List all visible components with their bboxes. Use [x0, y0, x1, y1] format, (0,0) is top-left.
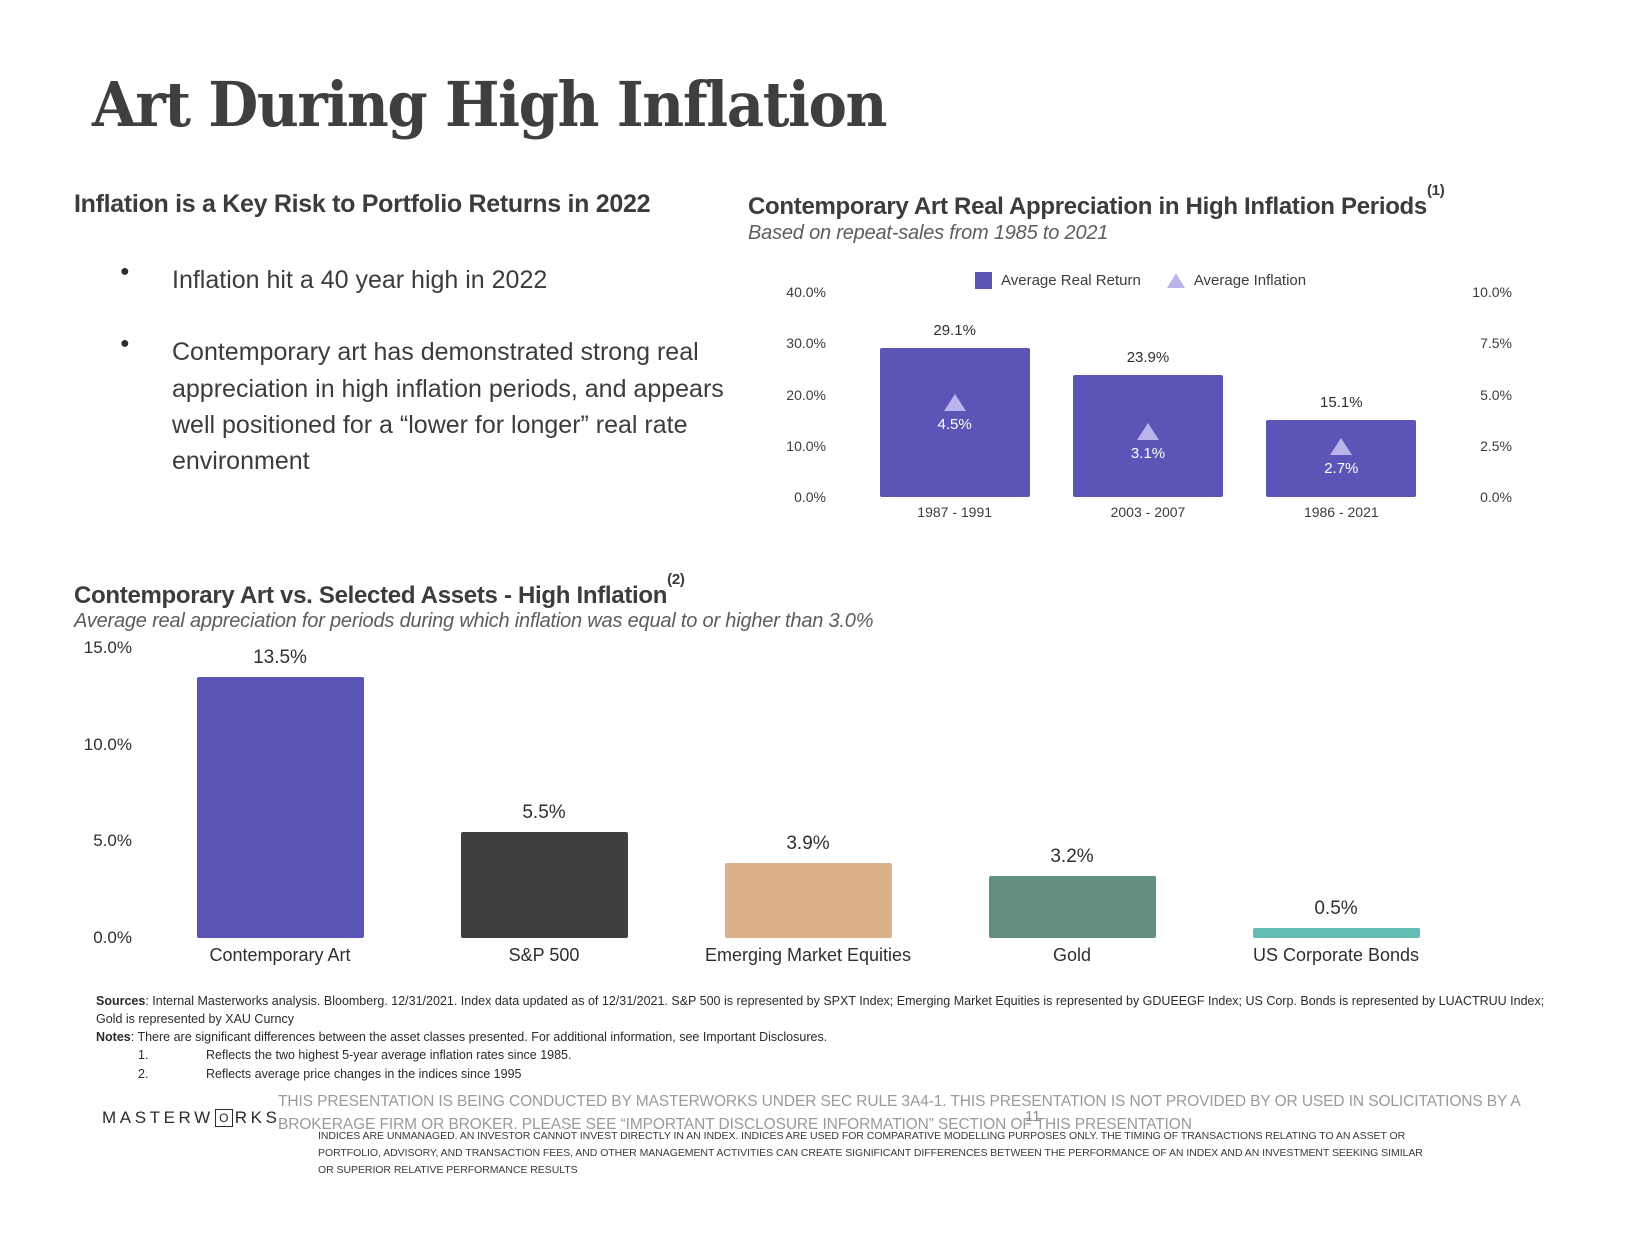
bar[interactable]: 3.9% — [725, 863, 892, 938]
axis-category-label: 1986 - 2021 — [1266, 504, 1416, 520]
axis-tick: 7.5% — [1480, 335, 1512, 351]
legend-label: Average Inflation — [1194, 272, 1306, 289]
bar-value-label: 0.5% — [1213, 898, 1460, 920]
chart2-column-gold: 3.2% Gold — [940, 648, 1204, 938]
list-item: Contemporary art has demonstrated strong… — [108, 334, 748, 479]
masterworks-logo: MASTERWORKS — [102, 1108, 281, 1128]
chart2-column-sp500: 5.5% S&P 500 — [412, 648, 676, 938]
axis-tick: 10.0% — [84, 735, 132, 755]
axis-tick: 2.5% — [1480, 438, 1512, 454]
axis-category-label: 1987 - 1991 — [880, 504, 1030, 520]
chart2-subtitle: Average real appreciation for periods du… — [74, 610, 873, 633]
axis-tick: 30.0% — [786, 335, 826, 351]
chart2-heading-text: Contemporary Art vs. Selected Assets - H… — [74, 582, 667, 609]
axis-category-label: US Corporate Bonds — [1164, 945, 1508, 966]
brand-o-box-icon: O — [215, 1109, 233, 1127]
chart1-heading: Contemporary Art Real Appreciation in Hi… — [748, 192, 1444, 221]
bar-value-label: 29.1% — [880, 322, 1030, 339]
axis-tick: 15.0% — [84, 638, 132, 658]
legend-label: Average Real Return — [1001, 272, 1141, 289]
chart1-legend: Average Real Return Average Inflation — [975, 272, 1306, 289]
axis-tick: 20.0% — [786, 387, 826, 403]
footnote-number: 2. — [138, 1065, 206, 1083]
list-item: 2. Reflects average price changes in the… — [96, 1065, 1556, 1083]
chart1-heading-footnote-marker: (1) — [1427, 182, 1444, 199]
chart1-column-2003-2007: 23.9% 3.1% 2003 - 2007 — [1073, 292, 1223, 497]
list-item: 1. Reflects the two highest 5-year avera… — [96, 1046, 1556, 1064]
footnotes-block: Sources: Internal Masterworks analysis. … — [96, 992, 1556, 1083]
bar-value-label: 3.2% — [949, 846, 1196, 868]
footnote-text: Reflects the two highest 5-year average … — [206, 1046, 572, 1064]
footnote-numbered-list: 1. Reflects the two highest 5-year avera… — [96, 1046, 1556, 1082]
chart1-plot-area: 0.0% 10.0% 20.0% 30.0% 40.0% 29.1% 4.5% … — [748, 292, 1548, 522]
bar-value-label: 13.5% — [157, 647, 404, 669]
chart2-column-contemporary-art: 13.5% Contemporary Art — [148, 648, 412, 938]
square-swatch-icon — [975, 272, 992, 289]
chart1-y-axis-right: 0.0% 2.5% 5.0% 7.5% 10.0% — [1448, 292, 1512, 497]
bar[interactable]: 29.1% 4.5% — [880, 348, 1030, 497]
page-number: 11 — [1025, 1108, 1041, 1125]
triangle-marker-icon — [944, 394, 966, 411]
axis-tick: 5.0% — [1480, 387, 1512, 403]
bar[interactable]: 23.9% 3.1% — [1073, 375, 1223, 498]
list-item: Inflation hit a 40 year high in 2022 — [108, 262, 748, 298]
legend-entry-average-real-return: Average Real Return — [975, 272, 1141, 289]
bar-value-label: 3.9% — [685, 833, 932, 855]
chart1-subtitle: Based on repeat-sales from 1985 to 2021 — [748, 222, 1108, 245]
chart2-heading-footnote-marker: (2) — [667, 571, 684, 588]
bar-value-label: 5.5% — [421, 802, 668, 824]
left-panel-bullet-list: Inflation hit a 40 year high in 2022 Con… — [108, 262, 748, 515]
chart2-bars: 13.5% Contemporary Art 5.5% S&P 500 3.9%… — [148, 648, 1468, 938]
notes-line: Notes: There are significant differences… — [96, 1028, 1556, 1046]
disclosure-small-text: INDICES ARE UNMANAGED. AN INVESTOR CANNO… — [318, 1128, 1428, 1179]
brand-text-part1: MASTERW — [102, 1108, 214, 1128]
chart2-column-emerging-market-equities: 3.9% Emerging Market Equities — [676, 648, 940, 938]
axis-tick: 40.0% — [786, 284, 826, 300]
bar-value-label: 23.9% — [1073, 349, 1223, 366]
notes-text: : There are significant differences betw… — [131, 1030, 827, 1044]
sources-line: Sources: Internal Masterworks analysis. … — [96, 992, 1556, 1028]
footnote-text: Reflects average price changes in the in… — [206, 1065, 521, 1083]
axis-category-label: 2003 - 2007 — [1073, 504, 1223, 520]
axis-tick: 10.0% — [1472, 284, 1512, 300]
axis-tick: 0.0% — [1480, 489, 1512, 505]
triangle-marker-icon — [1167, 273, 1185, 288]
bar[interactable]: 15.1% 2.7% — [1266, 420, 1416, 497]
left-panel-heading: Inflation is a Key Risk to Portfolio Ret… — [74, 190, 650, 219]
triangle-marker-icon — [1330, 438, 1352, 455]
chart1-heading-text: Contemporary Art Real Appreciation in Hi… — [748, 193, 1427, 220]
inflation-value-label: 2.7% — [1266, 460, 1416, 477]
chart1-y-axis-left: 0.0% 10.0% 20.0% 30.0% 40.0% — [762, 292, 826, 497]
legend-entry-average-inflation: Average Inflation — [1167, 272, 1306, 289]
notes-label: Notes — [96, 1030, 131, 1044]
chart2-column-us-corporate-bonds: 0.5% US Corporate Bonds — [1204, 648, 1468, 938]
page-title: Art During High Inflation — [92, 68, 886, 141]
chart1-column-1987-1991: 29.1% 4.5% 1987 - 1991 — [880, 292, 1030, 497]
footnote-number: 1. — [138, 1046, 206, 1064]
bar[interactable]: 0.5% — [1253, 928, 1420, 938]
sources-text: : Internal Masterworks analysis. Bloombe… — [96, 994, 1544, 1026]
sources-label: Sources — [96, 994, 145, 1008]
brand-text-part2: RKS — [235, 1108, 281, 1128]
chart1-column-1986-2021: 15.1% 2.7% 1986 - 2021 — [1266, 292, 1416, 497]
inflation-value-label: 4.5% — [880, 416, 1030, 433]
chart2-heading: Contemporary Art vs. Selected Assets - H… — [74, 581, 685, 610]
bar-value-label: 15.1% — [1266, 394, 1416, 411]
inflation-value-label: 3.1% — [1073, 445, 1223, 462]
chart2-y-axis: 0.0% 5.0% 10.0% 15.0% — [70, 648, 132, 938]
bar[interactable]: 3.2% — [989, 876, 1156, 938]
bar[interactable]: 13.5% — [197, 677, 364, 938]
bar[interactable]: 5.5% — [461, 832, 628, 938]
axis-tick: 0.0% — [794, 489, 826, 505]
axis-tick: 5.0% — [93, 831, 132, 851]
chart1-bars: 29.1% 4.5% 1987 - 1991 23.9% 3.1% 2003 -… — [858, 292, 1438, 497]
axis-tick: 10.0% — [786, 438, 826, 454]
triangle-marker-icon — [1137, 423, 1159, 440]
chart2-plot-area: 0.0% 5.0% 10.0% 15.0% 13.5% Contemporary… — [70, 648, 1470, 978]
